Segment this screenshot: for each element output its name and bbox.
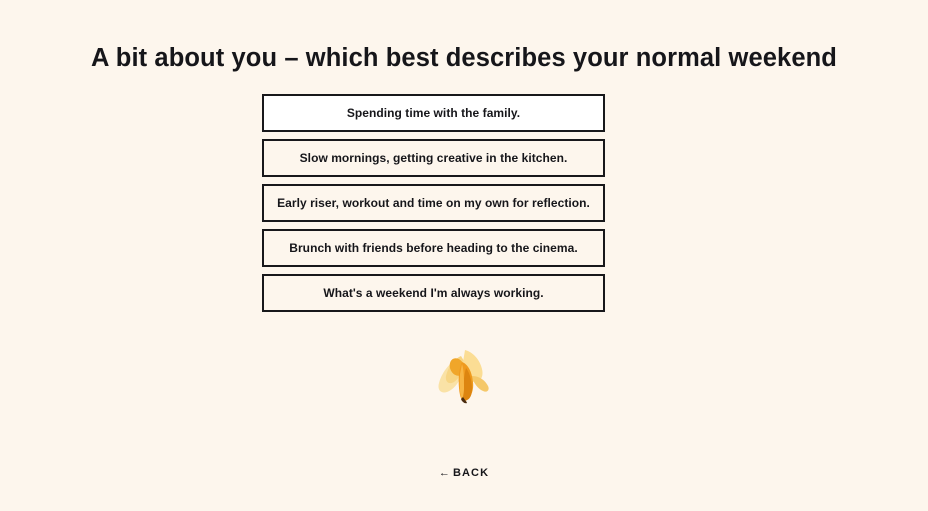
- arrow-left-icon: ←: [439, 467, 451, 479]
- list-item: Slow mornings, getting creative in the k…: [262, 139, 605, 177]
- page-title: A bit about you – which best describes y…: [0, 41, 928, 75]
- list-item: Spending time with the family.: [262, 94, 605, 132]
- answer-option-3[interactable]: Early riser, workout and time on my own …: [262, 184, 605, 222]
- answer-options-list: Spending time with the family. Slow morn…: [262, 94, 605, 319]
- mascot-illustration: [0, 344, 928, 404]
- back-button[interactable]: ←BACK: [0, 467, 928, 479]
- list-item: What's a weekend I'm always working.: [262, 274, 605, 312]
- answer-option-2[interactable]: Slow mornings, getting creative in the k…: [262, 139, 605, 177]
- quiz-screen: A bit about you – which best describes y…: [0, 0, 928, 511]
- answer-option-5[interactable]: What's a weekend I'm always working.: [262, 274, 605, 312]
- back-button-label: BACK: [453, 467, 489, 479]
- banana-icon: [435, 344, 493, 404]
- answer-option-4[interactable]: Brunch with friends before heading to th…: [262, 229, 605, 267]
- list-item: Brunch with friends before heading to th…: [262, 229, 605, 267]
- list-item: Early riser, workout and time on my own …: [262, 184, 605, 222]
- answer-option-1[interactable]: Spending time with the family.: [262, 94, 605, 132]
